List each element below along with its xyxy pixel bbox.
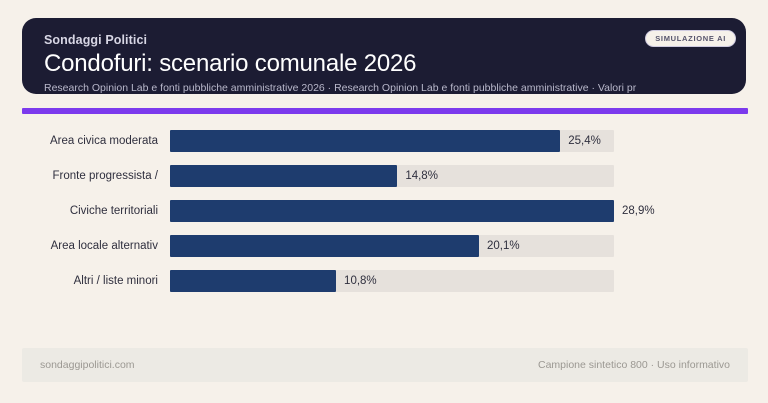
bar-category-label: Area locale alternativ [22, 239, 170, 253]
chart-row: Area locale alternativ 20,1% [22, 233, 748, 259]
bar-track: 28,9% [170, 200, 614, 222]
footer-band: sondaggipolitici.com Campione sintetico … [22, 348, 748, 382]
bar-fill [170, 235, 479, 257]
bar-value-label: 14,8% [405, 170, 438, 182]
bar-fill [170, 165, 397, 187]
header-section: SIMULAZIONE AI Sondaggi Politici Condofu… [22, 18, 746, 94]
chart-row: Fronte progressista / 14,8% [22, 163, 748, 189]
header-subtitle: Research Opinion Lab e fonti pubbliche a… [44, 81, 734, 94]
bar-category-label: Altri / liste minori [22, 274, 170, 288]
bar-fill [170, 130, 560, 152]
chart-row: Altri / liste minori 10,8% [22, 268, 748, 294]
bar-value-label: 28,9% [622, 205, 655, 217]
bar-track: 20,1% [170, 235, 614, 257]
bar-value-label: 10,8% [344, 275, 377, 287]
page-title: Condofuri: scenario comunale 2026 [44, 49, 724, 78]
bar-track: 14,8% [170, 165, 614, 187]
footer-note-label: Campione sintetico 800 · Uso informativo [538, 359, 730, 371]
accent-divider [22, 108, 748, 114]
brand-kicker: Sondaggi Politici [44, 32, 724, 48]
bar-track: 10,8% [170, 270, 614, 292]
bar-value-label: 20,1% [487, 240, 520, 252]
poster-canvas: SIMULAZIONE AI Sondaggi Politici Condofu… [0, 0, 768, 403]
bar-track: 25,4% [170, 130, 614, 152]
simulation-badge: SIMULAZIONE AI [645, 30, 736, 47]
bar-fill [170, 200, 614, 222]
bar-category-label: Civiche territoriali [22, 204, 170, 218]
bar-chart: Area civica moderata 25,4% Fronte progre… [22, 128, 748, 308]
bar-category-label: Area civica moderata [22, 134, 170, 148]
bar-category-label: Fronte progressista / [22, 169, 170, 183]
footer-site-label: sondaggipolitici.com [40, 359, 135, 371]
chart-row: Civiche territoriali 28,9% [22, 198, 748, 224]
header-card: Sondaggi Politici Condofuri: scenario co… [22, 18, 746, 94]
bar-value-label: 25,4% [568, 135, 601, 147]
chart-row: Area civica moderata 25,4% [22, 128, 748, 154]
bar-fill [170, 270, 336, 292]
